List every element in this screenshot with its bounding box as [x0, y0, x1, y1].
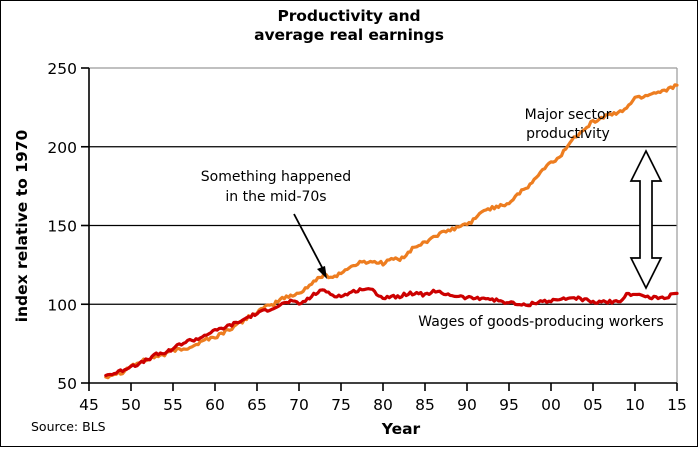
x-tick-label: 60: [205, 396, 225, 414]
x-tick-label: 15: [667, 396, 687, 414]
x-tick-label: 55: [163, 396, 183, 414]
x-tick-label: 85: [415, 396, 435, 414]
x-tick-label: 50: [121, 396, 141, 414]
y-axis-ticks: 50100150200250: [47, 60, 89, 393]
y-tick-label: 100: [47, 296, 77, 314]
y-tick-label: 250: [47, 60, 77, 78]
x-axis-ticks: 455055606570758085909500051015: [79, 383, 687, 414]
annotation-mid70s-line-1: Something happened: [201, 169, 351, 185]
line-chart: 50100150200250 4550556065707580859095000…: [1, 1, 699, 448]
chart-frame: Productivity and average real earnings 5…: [0, 0, 698, 447]
series-label-productivity-line-2: productivity: [526, 126, 610, 142]
series-label-productivity-line-1: Major sector: [525, 107, 612, 123]
annotation-mid70s-line-2: in the mid-70s: [225, 189, 326, 205]
x-tick-label: 45: [79, 396, 99, 414]
x-tick-label: 80: [373, 396, 393, 414]
source-note: Source: BLS: [31, 419, 106, 434]
x-tick-label: 10: [625, 396, 645, 414]
y-tick-label: 50: [57, 375, 77, 393]
x-tick-label: 00: [541, 396, 561, 414]
x-tick-label: 65: [247, 396, 267, 414]
x-tick-label: 90: [457, 396, 477, 414]
y-tick-label: 150: [47, 218, 77, 236]
y-tick-label: 200: [47, 139, 77, 157]
x-axis-title: Year: [381, 420, 421, 438]
x-tick-label: 70: [289, 396, 309, 414]
series-label-wages: Wages of goods-producing workers: [418, 314, 663, 330]
x-tick-label: 05: [583, 396, 603, 414]
y-axis-title: index relative to 1970: [13, 129, 31, 322]
x-tick-label: 95: [499, 396, 519, 414]
x-tick-label: 75: [331, 396, 351, 414]
